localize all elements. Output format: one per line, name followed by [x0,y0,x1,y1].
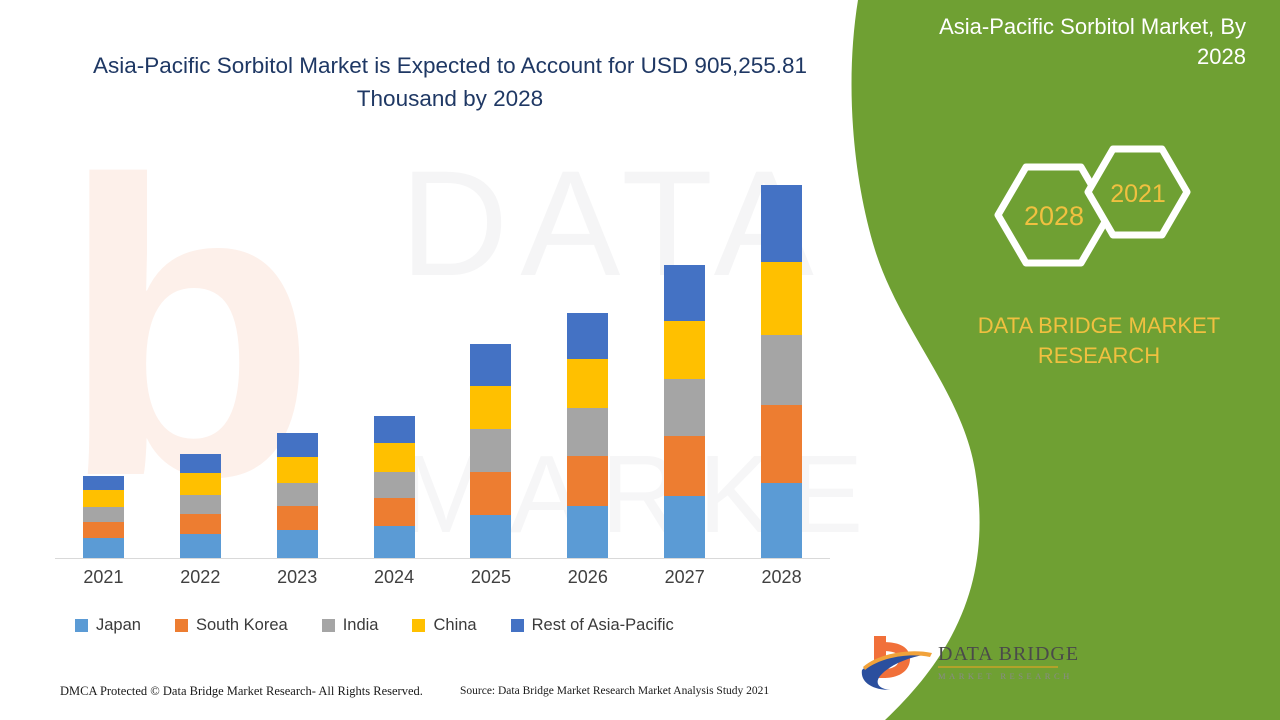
footer-source-note: Source: Data Bridge Market Research Mark… [460,685,769,697]
bar-segment [83,476,124,490]
x-axis-label: 2028 [742,567,822,588]
bar-group [55,150,830,558]
legend-label: India [343,616,379,635]
bar-segment [664,265,705,321]
brand-name-line-1: DATA BRIDGE MARKET [954,311,1244,341]
bar-segment [470,515,511,558]
bar-segment [761,405,802,483]
bar-segment [567,313,608,359]
chart-plot-area [55,150,830,559]
bar-segment [664,379,705,436]
bar-stack [180,454,221,558]
x-axis-label: 2026 [548,567,628,588]
x-axis-label: 2024 [354,567,434,588]
x-axis-label: 2027 [645,567,725,588]
x-axis-label: 2025 [451,567,531,588]
bar-column [645,150,725,558]
legend-swatch [412,619,425,632]
panel-title: Asia-Pacific Sorbitol Market, By 2028 [886,12,1246,72]
legend-swatch [322,619,335,632]
bar-column [257,150,337,558]
infographic-root: b DATA BRIDGE MARKET RESEARCH Asia-Pacif… [0,0,1280,720]
bar-segment [277,530,318,558]
bar-column [160,150,240,558]
bar-segment [374,498,415,526]
bar-column [548,150,628,558]
bar-stack [567,313,608,558]
x-axis-line [55,558,830,559]
legend-swatch [75,619,88,632]
bar-segment [470,472,511,515]
bar-segment [83,507,124,522]
bar-segment [83,522,124,538]
bar-segment [83,538,124,558]
x-axis-labels: 20212022202320242025202620272028 [55,567,830,588]
brand-panel-content: Asia-Pacific Sorbitol Market, By 2028 20… [840,0,1280,720]
hexagon-year-badges: 2028 2021 [982,140,1202,290]
x-axis-label: 2022 [160,567,240,588]
bar-segment [664,436,705,496]
bar-segment [664,321,705,379]
bar-segment [470,344,511,386]
bar-stack [664,265,705,558]
legend-label: Japan [96,616,141,635]
footer: DMCA Protected © Data Bridge Market Rese… [0,684,850,708]
hexagon-2028-label: 2028 [1024,201,1084,231]
legend-item[interactable]: Japan [75,616,141,635]
bar-segment [180,495,221,514]
chart-title: Asia-Pacific Sorbitol Market is Expected… [60,50,840,115]
bar-segment [664,496,705,558]
bar-stack [470,344,511,558]
bar-segment [83,490,124,507]
bar-segment [277,483,318,506]
bar-segment [761,335,802,405]
legend-item[interactable]: China [412,616,476,635]
bar-segment [761,262,802,335]
legend-item[interactable]: India [322,616,379,635]
bar-segment [567,408,608,456]
x-axis-label: 2023 [257,567,337,588]
bar-stack [277,433,318,558]
legend-item[interactable]: Rest of Asia-Pacific [511,616,674,635]
legend-label: Rest of Asia-Pacific [532,616,674,635]
bar-segment [374,526,415,558]
data-bridge-logo: DATA BRIDGE MARKET RESEARCH [860,632,1080,694]
bar-segment [180,473,221,495]
bar-segment [180,534,221,558]
legend-label: China [433,616,476,635]
footer-dmca-notice: DMCA Protected © Data Bridge Market Rese… [60,684,423,699]
bar-segment [277,433,318,457]
brand-name-line-2: RESEARCH [954,341,1244,371]
brand-name: DATA BRIDGE MARKET RESEARCH [954,311,1244,371]
bar-segment [567,506,608,558]
bar-stack [83,476,124,558]
bar-segment [470,429,511,472]
legend-label: South Korea [196,616,288,635]
bar-segment [277,457,318,483]
bar-column [451,150,531,558]
legend-swatch [175,619,188,632]
bar-segment [761,185,802,262]
bar-column [354,150,434,558]
bar-segment [761,483,802,558]
chart-legend: JapanSouth KoreaIndiaChinaRest of Asia-P… [75,616,708,635]
bar-segment [277,506,318,530]
legend-item[interactable]: South Korea [175,616,288,635]
bar-column [63,150,143,558]
bar-segment [567,456,608,506]
bar-segment [180,514,221,534]
bar-column [742,150,822,558]
logo-subtitle: MARKET RESEARCH [938,671,1073,681]
bar-stack [374,416,415,558]
hexagon-2021-label: 2021 [1110,180,1166,208]
x-axis-label: 2021 [63,567,143,588]
bar-segment [567,359,608,408]
logo-title: DATA BRIDGE [938,643,1079,665]
legend-swatch [511,619,524,632]
bar-stack [761,185,802,558]
bar-segment [374,443,415,472]
bar-segment [374,416,415,443]
bar-segment [470,386,511,429]
bar-segment [374,472,415,498]
bar-segment [180,454,221,473]
